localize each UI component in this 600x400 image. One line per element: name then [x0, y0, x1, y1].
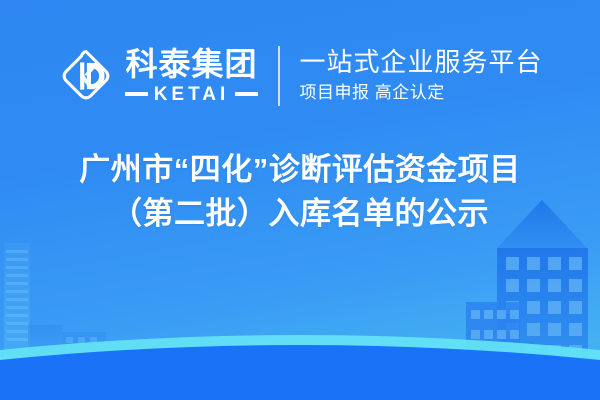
- announcement-banner: 科泰集团 KETAI 一站式企业服务平台 项目申报 高企认定 广州市“四化”诊断…: [0, 0, 600, 400]
- slogan-secondary: 项目申报 高企认定: [300, 82, 543, 104]
- logo-english-name: KETAI: [154, 85, 230, 104]
- header-vertical-divider: [278, 46, 280, 106]
- title-line-2: （第二批）入库名单的公示: [18, 192, 582, 236]
- footer-curve: [0, 345, 600, 400]
- logo-wordmark: 科泰集团 KETAI: [125, 48, 257, 104]
- brand-header: 科泰集团 KETAI 一站式企业服务平台 项目申报 高企认定: [0, 36, 600, 116]
- building-right-block: [466, 302, 520, 363]
- window-grid-right-tower: [506, 257, 582, 358]
- slogan-primary: 一站式企业服务平台: [300, 48, 543, 78]
- building-left-tower: [4, 243, 30, 363]
- ketai-diamond-monogram-icon: [57, 47, 115, 105]
- arc-highlight-line: [0, 335, 600, 364]
- logo-dash-left: [125, 92, 147, 96]
- window-grid-right-block: [471, 310, 519, 339]
- slogan-block: 一站式企业服务平台 项目申报 高企认定: [300, 48, 543, 104]
- logo-chinese-name: 科泰集团: [125, 48, 257, 82]
- logo-lockup[interactable]: 科泰集团 KETAI: [57, 47, 257, 105]
- announcement-title: 广州市“四化”诊断评估资金项目 （第二批）入库名单的公示: [0, 148, 600, 236]
- title-line-1: 广州市“四化”诊断评估资金项目: [18, 148, 582, 192]
- building-left-block: [28, 325, 106, 363]
- logo-english-row: KETAI: [125, 85, 257, 104]
- logo-dash-right: [235, 92, 257, 96]
